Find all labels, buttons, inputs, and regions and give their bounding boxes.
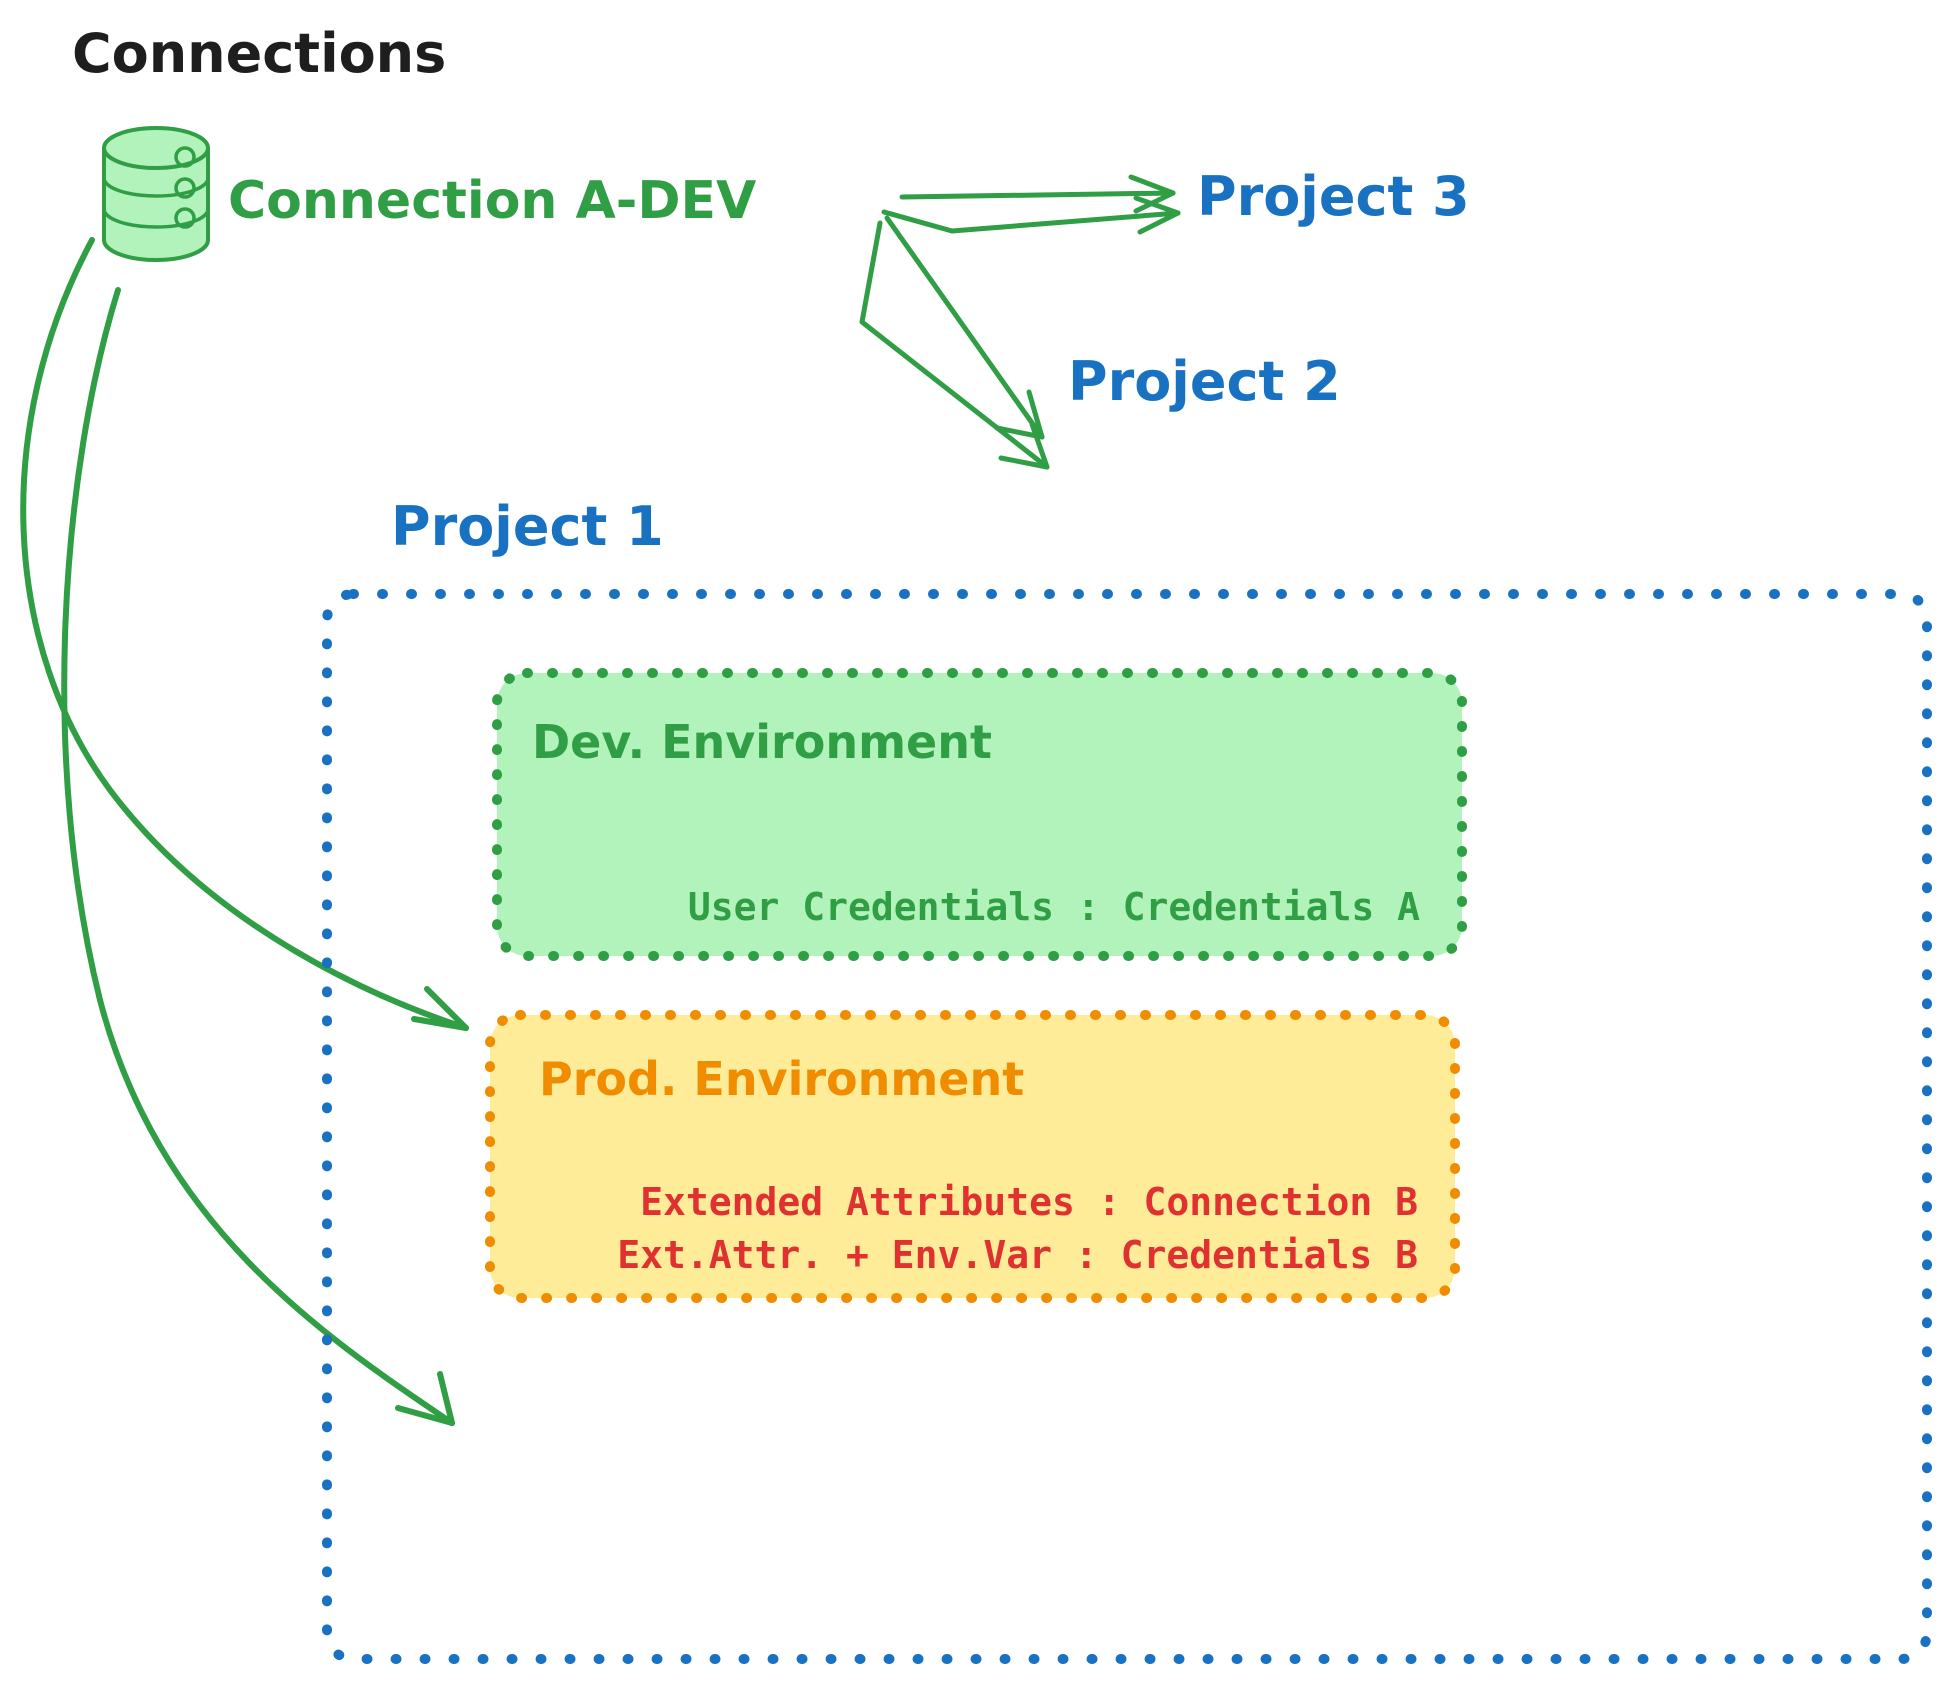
prod-environment-line-2: Ext.Attr. + Env.Var : Credentials B — [617, 1233, 1418, 1277]
connection-label: Connection A-DEV — [228, 171, 756, 231]
project-3-label: Project 3 — [1197, 165, 1470, 228]
project-1-label: Project 1 — [391, 495, 664, 558]
edge-connection-to-project3 — [902, 177, 1173, 211]
page-title: Connections — [72, 22, 446, 85]
project-2-label: Project 2 — [1068, 350, 1341, 413]
prod-environment-box: Prod. Environment Extended Attributes : … — [490, 1015, 1455, 1298]
dev-environment-label: Dev. Environment — [532, 715, 992, 769]
prod-environment-label: Prod. Environment — [539, 1052, 1024, 1106]
diagram-canvas: Connections Connection A-DEV — [0, 0, 1938, 1691]
edge-db-to-dev-environment — [23, 240, 466, 1028]
edge-db-to-prod-environment — [64, 290, 452, 1423]
dev-environment-line-1: User Credentials : Credentials A — [688, 885, 1420, 929]
database-icon — [104, 128, 208, 260]
edge-connection-to-project3-b — [884, 198, 1178, 232]
dev-environment-box: Dev. Environment User Credentials : Cred… — [497, 673, 1462, 956]
prod-environment-line-1: Extended Attributes : Connection B — [640, 1180, 1418, 1224]
